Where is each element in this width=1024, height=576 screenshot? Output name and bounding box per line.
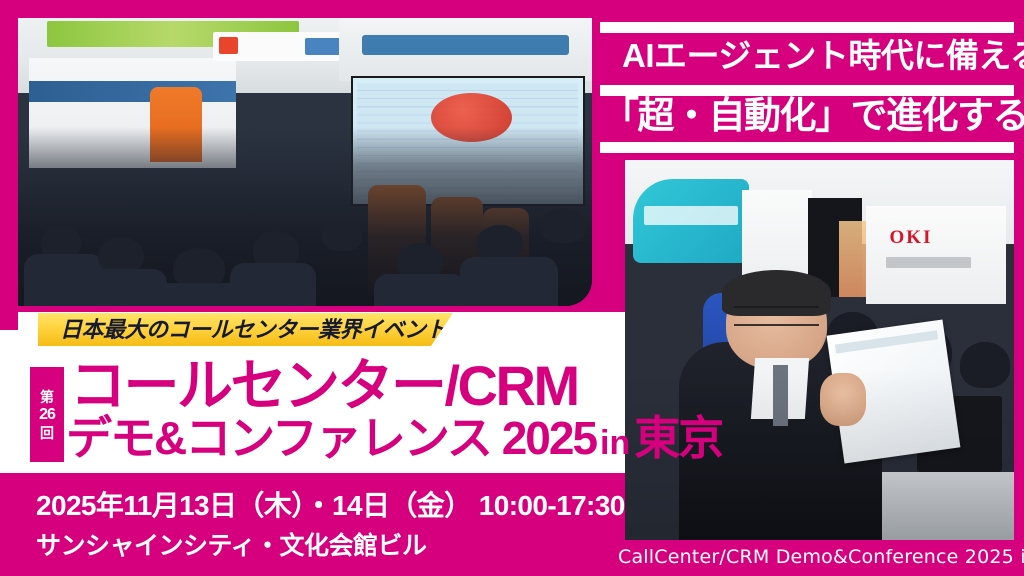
event-title-in: in: [596, 424, 634, 462]
tagline-text: 日本最大のコールセンター業界イベント: [60, 318, 447, 342]
edition-number: 26: [39, 407, 55, 423]
event-venue: サンシャインシティ・文化会館ビル: [36, 534, 427, 559]
pink-footer-band: [0, 473, 640, 576]
headline-line-2: 「超・自動化」で進化するCX＆EX: [602, 97, 1024, 134]
expo-hall-crowd-photo: [18, 18, 592, 306]
attendee-body: [460, 257, 558, 306]
attendee-body: [230, 263, 316, 306]
edition-suffix: 回: [40, 426, 54, 440]
headline-rule-top: [600, 22, 1014, 33]
photo-vignette: [625, 160, 1014, 540]
etoc-logo-mark: [219, 37, 239, 54]
english-event-caption: CallCenter/CRM Demo&Conference 2025 in T…: [618, 548, 1024, 567]
event-title-line-2: デモ&コンファレンス 2025in東京: [66, 415, 722, 461]
headline-rule-bottom: [600, 142, 1014, 153]
edition-badge: 第 26 回: [30, 367, 64, 462]
tagline-ribbon: 日本最大のコールセンター業界イベント: [38, 313, 453, 346]
attendee-head: [477, 225, 523, 260]
attendee-body: [374, 274, 466, 306]
genesys-cloud-sign: [362, 35, 569, 55]
event-date-time: 2025年11月13日（木）・14日（金） 10:00-17:30: [36, 492, 625, 520]
edition-prefix: 第: [40, 390, 54, 404]
headline-block: AIエージェント時代に備える！ 「超・自動化」で進化するCX＆EX: [600, 0, 1024, 160]
event-title-city: 東京: [634, 412, 722, 464]
event-title-line-1: コールセンター/CRM: [70, 358, 578, 414]
booth-blue-strip: [29, 81, 236, 101]
event-poster: OKI AIエージェント時代に備える！ 「超・自動化」で進化するCX＆EX 日本…: [0, 0, 1024, 576]
event-title-line-2-main: デモ&コンファレンス 2025: [66, 412, 596, 464]
booth-visitor-photo: OKI: [625, 160, 1014, 540]
attendee-head: [322, 220, 362, 252]
headline-line-1: AIエージェント時代に備える！: [622, 39, 1024, 72]
pink-left-margin: [0, 0, 18, 330]
attendee-head: [540, 208, 586, 243]
